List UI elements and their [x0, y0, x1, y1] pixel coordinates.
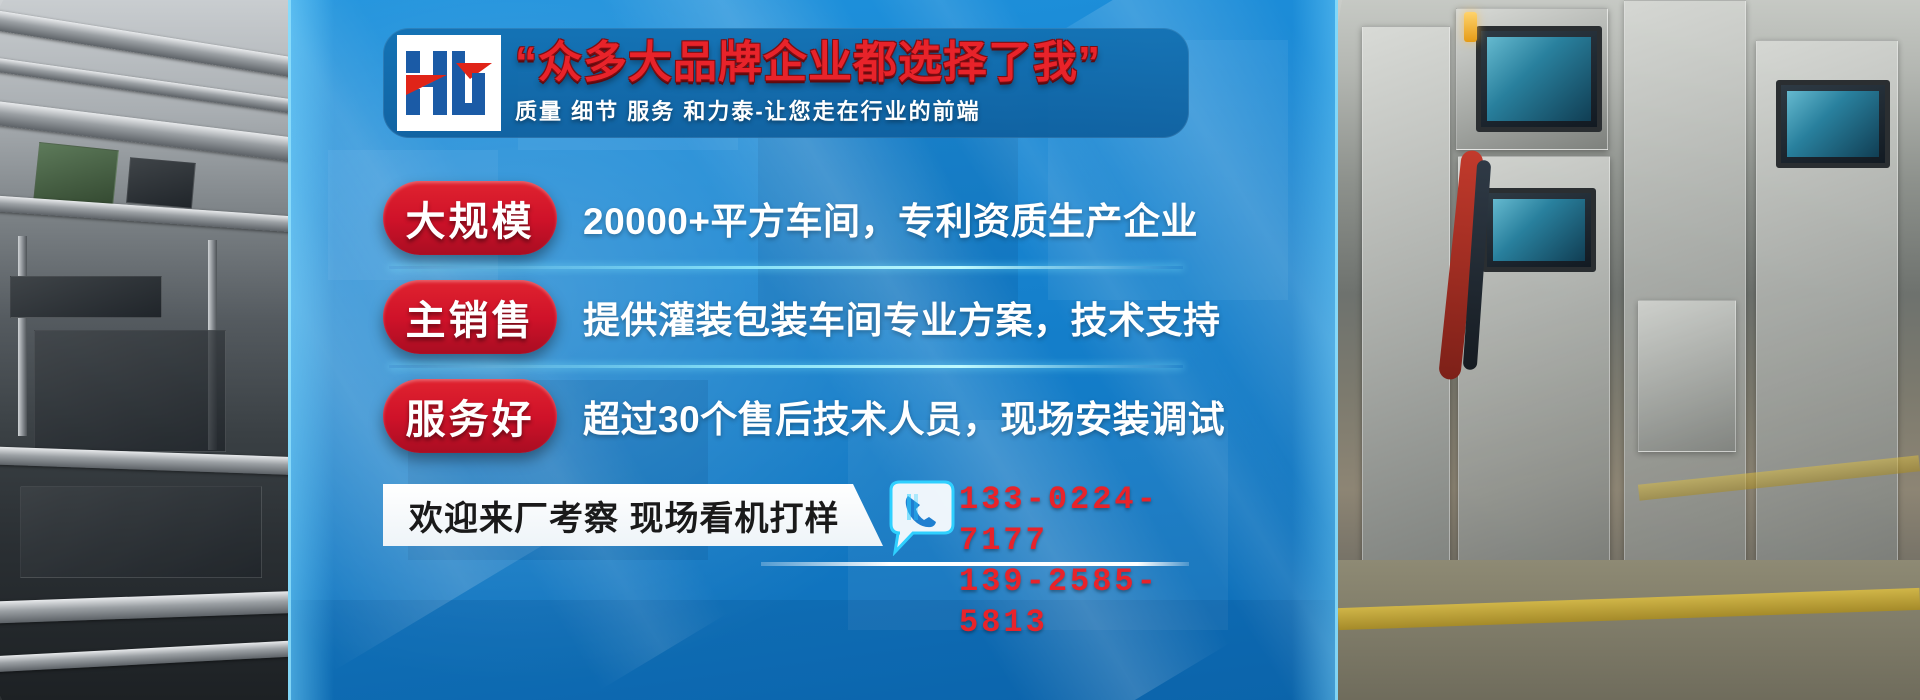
- panel-left-rule: [288, 0, 291, 700]
- hlt-logo-icon: [406, 49, 492, 117]
- feature-description: 20000+平方车间，专利资质生产企业: [583, 191, 1198, 245]
- footer-contact-bar: 欢迎来厂考察 现场看机打样 133-0224-7177 139-2585-581…: [383, 478, 1189, 568]
- header-banner-pill: “众多大品牌企业都选择了我” 质量 细节 服务 和力泰-让您走在行业的前端: [383, 28, 1189, 138]
- visit-cta-label: 欢迎来厂考察 现场看机打样: [409, 491, 839, 540]
- telephone-icon: [883, 478, 961, 556]
- phone-number[interactable]: 133-0224-7177: [959, 480, 1189, 562]
- panel-right-glow: [1292, 0, 1338, 700]
- feature-badge: 大规模: [383, 181, 557, 255]
- feature-list: 大规模 20000+平方车间，专利资质生产企业 主销售 提供灌装包装车间专业方案…: [383, 170, 1189, 464]
- panel-right-rule: [1335, 0, 1338, 700]
- feature-description: 提供灌装包装车间专业方案，技术支持: [583, 290, 1221, 344]
- feature-badge-label: 服务好: [406, 387, 535, 445]
- phone-number[interactable]: 139-2585-5813: [959, 562, 1189, 644]
- brand-logo-box: [397, 35, 501, 131]
- promo-banner: “众多大品牌企业都选择了我” 质量 细节 服务 和力泰-让您走在行业的前端 大规…: [0, 0, 1920, 700]
- banner-headline: “众多大品牌企业都选择了我”: [515, 40, 1179, 87]
- feature-row: 大规模 20000+平方车间，专利资质生产企业: [383, 170, 1189, 266]
- right-factory-photo: [1338, 0, 1920, 700]
- banner-subheadline: 质量 细节 服务 和力泰-让您走在行业的前端: [515, 94, 1179, 126]
- feature-badge-label: 大规模: [406, 189, 535, 247]
- feature-badge: 主销售: [383, 280, 557, 354]
- feature-badge-label: 主销售: [406, 288, 535, 346]
- feature-row: 服务好 超过30个售后技术人员，现场安装调试: [383, 368, 1189, 464]
- panel-left-glow: [288, 0, 334, 700]
- visit-cta-ribbon: 欢迎来厂考察 现场看机打样: [383, 484, 883, 546]
- left-factory-photo: [0, 0, 288, 700]
- feature-description: 超过30个售后技术人员，现场安装调试: [583, 389, 1225, 443]
- feature-row: 主销售 提供灌装包装车间专业方案，技术支持: [383, 269, 1189, 365]
- footer-underline: [761, 562, 1189, 566]
- feature-badge: 服务好: [383, 379, 557, 453]
